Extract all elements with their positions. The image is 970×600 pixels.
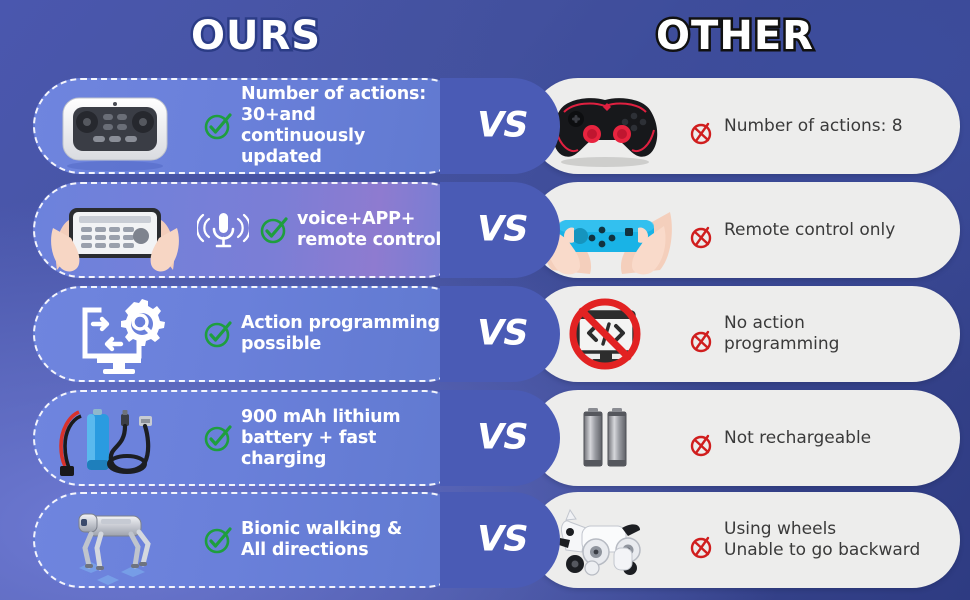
red-x-circle-icon xyxy=(680,520,724,560)
other-feature-text: Not rechargeable xyxy=(724,428,960,449)
ours-feature-text: Number of actions: 30+and continuously u… xyxy=(241,84,471,168)
hands-holding-remote-control-photo xyxy=(35,182,195,278)
comparison-row: 900 mAh lithium battery + fast charging … xyxy=(0,390,970,486)
green-check-circle-icon xyxy=(195,111,241,141)
other-feature-text: Using wheels Unable to go backward xyxy=(724,519,960,561)
green-check-circle-icon xyxy=(195,525,241,555)
ours-feature-text: 900 mAh lithium battery + fast charging xyxy=(241,407,471,470)
ours-feature-text: Action programming possible xyxy=(241,313,471,355)
ours-feature-card: Number of actions: 30+and continuously u… xyxy=(33,78,473,174)
red-x-circle-icon xyxy=(680,314,724,354)
versus-badge: VS xyxy=(440,286,570,382)
versus-label: VS xyxy=(449,421,556,456)
green-check-circle-icon xyxy=(195,423,241,453)
white-game-remote-controller-photo xyxy=(35,78,195,174)
versus-badge: VS xyxy=(440,492,570,588)
green-check-circle-icon xyxy=(251,215,297,245)
other-feature-text: Remote control only xyxy=(724,220,960,241)
versus-label: VS xyxy=(449,523,556,558)
other-feature-card: Number of actions: 8 xyxy=(530,78,960,174)
versus-badge: VS xyxy=(440,78,570,174)
other-column-title: OTHER xyxy=(640,16,830,56)
comparison-row: Action programming possible VS xyxy=(0,286,970,382)
versus-badge: VS xyxy=(440,182,570,278)
red-x-circle-icon xyxy=(680,106,724,146)
other-feature-text: Number of actions: 8 xyxy=(724,116,960,137)
red-x-circle-icon xyxy=(680,418,724,458)
lithium-battery-and-usb-cable-photo xyxy=(35,390,195,486)
ours-feature-text: Bionic walking & All directions xyxy=(241,519,471,561)
comparison-row: Number of actions: 30+and continuously u… xyxy=(0,78,970,174)
other-feature-card: Not rechargeable xyxy=(530,390,960,486)
comparison-row: Bionic walking & All directions VS xyxy=(0,492,970,588)
ours-column-title: OURS xyxy=(176,16,336,56)
red-x-circle-icon xyxy=(680,210,724,250)
versus-label: VS xyxy=(449,109,556,144)
other-feature-text: No action programming xyxy=(724,313,960,355)
ours-feature-card: Bionic walking & All directions xyxy=(33,492,473,588)
comparison-headers: OURS OTHER xyxy=(0,0,970,72)
ours-feature-card: 900 mAh lithium battery + fast charging xyxy=(33,390,473,486)
versus-label: VS xyxy=(449,317,556,352)
versus-label: VS xyxy=(449,213,556,248)
silver-bionic-walking-robot-dog-photo xyxy=(35,492,195,588)
other-feature-card: No action programming xyxy=(530,286,960,382)
other-feature-card: Remote control only xyxy=(530,182,960,278)
comparison-row: voice+APP+ remote control VS xyxy=(0,182,970,278)
green-check-circle-icon xyxy=(195,319,241,349)
monitor-gear-magnifier-programming-icon xyxy=(35,286,195,382)
other-feature-card: Using wheels Unable to go backward xyxy=(530,492,960,588)
versus-badge: VS xyxy=(440,390,570,486)
ours-feature-card: Action programming possible xyxy=(33,286,473,382)
ours-feature-card: voice+APP+ remote control xyxy=(33,182,473,278)
microphone-voice-icon xyxy=(195,205,251,255)
